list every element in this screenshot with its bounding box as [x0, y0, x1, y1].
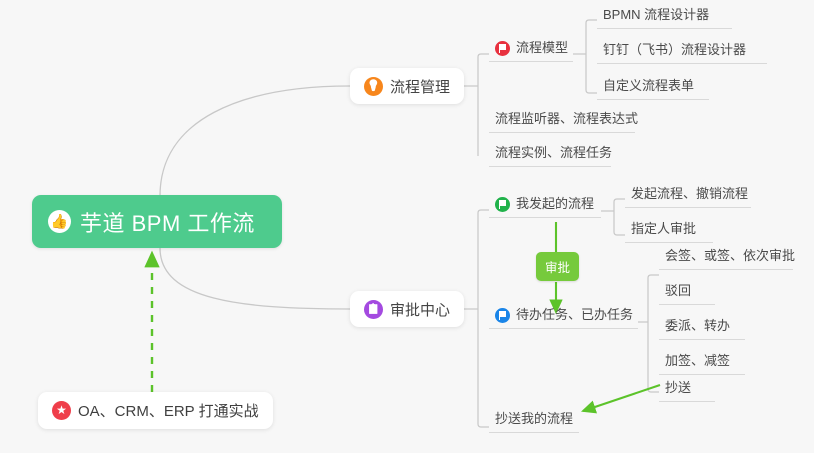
lightbulb-icon — [364, 77, 383, 96]
bottom-node-integration[interactable]: OA、CRM、ERP 打通实战 — [38, 392, 273, 429]
connector-model-corner-bottom — [586, 90, 597, 93]
root-label: 芋道 BPM 工作流 — [80, 206, 255, 238]
connector-pm-corner-top — [478, 54, 489, 60]
flag-green-icon — [495, 197, 510, 212]
connector-root-to-process-management — [160, 86, 350, 196]
connector-model-corner-top — [586, 20, 597, 26]
leaf-add-remove-sign[interactable]: 加签、减签 — [659, 353, 745, 375]
connector-mine-corner-bottom — [614, 232, 625, 235]
connector-root-to-approval-center — [160, 248, 350, 309]
leaf-dingtalk-feishu-designer[interactable]: 钉钉（飞书）流程设计器 — [597, 42, 767, 64]
connector-ac-corner-top — [478, 210, 489, 216]
leaf-delegate-transfer[interactable]: 委派、转办 — [659, 318, 745, 340]
leaf-start-cancel-process[interactable]: 发起流程、撤销流程 — [625, 186, 751, 208]
leaf-countersign-orsign-sequential[interactable]: 会签、或签、依次审批 — [659, 248, 793, 270]
star-icon — [52, 401, 71, 420]
mindmap-canvas: 芋道 BPM 工作流 流程管理 流程模型 BPMN 流程设计器 钉钉（飞书）流程… — [0, 0, 814, 453]
leaf-reject[interactable]: 驳回 — [659, 283, 715, 305]
connector-todo-corner-top — [648, 275, 659, 281]
node-todo-done-label: 待办任务、已办任务 — [516, 307, 633, 323]
connector-mine-corner-top — [614, 199, 625, 205]
root-node[interactable]: 芋道 BPM 工作流 — [32, 195, 282, 248]
branch-node-approval-center[interactable]: 审批中心 — [350, 291, 464, 327]
leaf-process-instance-task[interactable]: 流程实例、流程任务 — [489, 145, 611, 167]
connector-todo-corner-bottom — [648, 389, 659, 392]
node-my-initiated-process[interactable]: 我发起的流程 — [489, 196, 601, 218]
approve-badge[interactable]: 审批 — [536, 252, 579, 281]
thumbs-up-icon — [48, 210, 71, 233]
node-process-model[interactable]: 流程模型 — [489, 40, 573, 62]
node-my-initiated-label: 我发起的流程 — [516, 196, 594, 212]
node-todo-done-tasks[interactable]: 待办任务、已办任务 — [489, 307, 638, 329]
connector-ac-corner-bottom — [478, 424, 489, 427]
leaf-bpmn-designer[interactable]: BPMN 流程设计器 — [597, 7, 732, 29]
flag-blue-icon — [495, 308, 510, 323]
leaf-custom-process-form[interactable]: 自定义流程表单 — [597, 78, 709, 100]
node-process-model-label: 流程模型 — [516, 40, 568, 56]
branch-label-approval-center: 审批中心 — [390, 299, 450, 320]
arrow-cc-to-cc-mine — [583, 385, 660, 411]
leaf-assignee-approval[interactable]: 指定人审批 — [625, 221, 713, 243]
bottom-node-label: OA、CRM、ERP 打通实战 — [78, 400, 259, 421]
flag-red-icon — [495, 41, 510, 56]
leaf-cc[interactable]: 抄送 — [659, 380, 715, 402]
leaf-process-listener-expression[interactable]: 流程监听器、流程表达式 — [489, 111, 635, 133]
branch-node-process-management[interactable]: 流程管理 — [350, 68, 464, 104]
branch-label-process-management: 流程管理 — [390, 76, 450, 97]
node-cc-to-me[interactable]: 抄送我的流程 — [489, 411, 579, 433]
clipboard-icon — [364, 300, 383, 319]
